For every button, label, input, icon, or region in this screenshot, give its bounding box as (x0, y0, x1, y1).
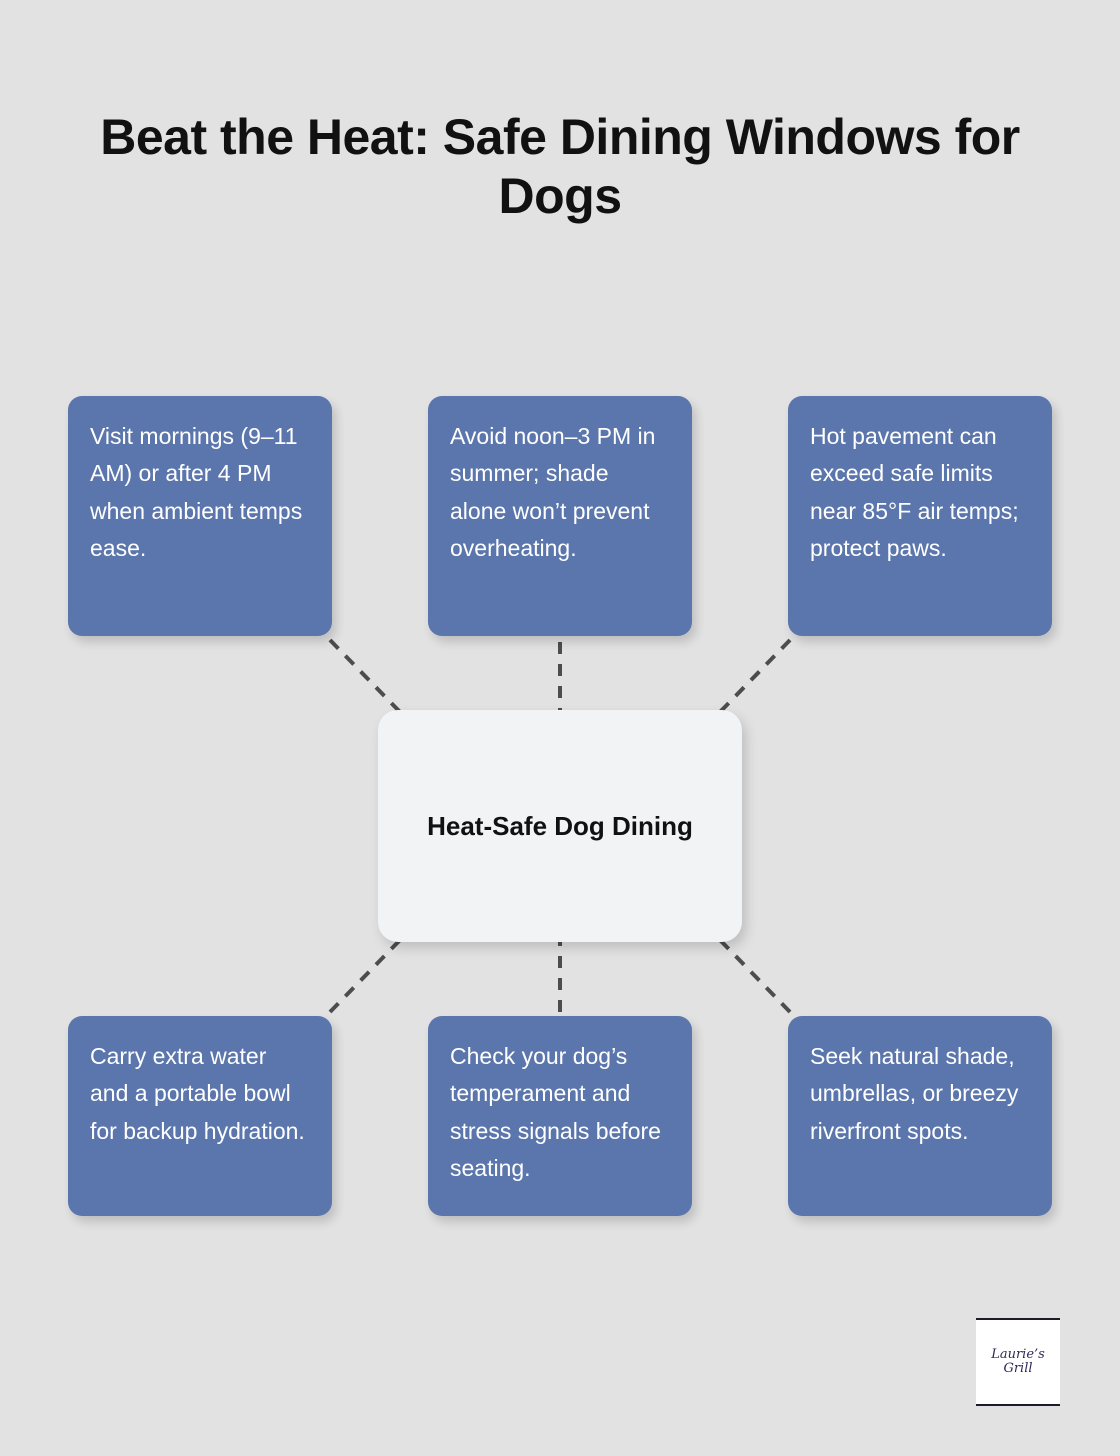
connector-bottom-left (330, 940, 400, 1012)
node-bottom-right-text: Seek natural shade, umbrellas, or breezy… (810, 1038, 1030, 1150)
connector-top-left (330, 640, 400, 712)
node-bottom-left: Carry extra water and a portable bowl fo… (68, 1016, 332, 1216)
node-bottom-left-text: Carry extra water and a portable bowl fo… (90, 1038, 310, 1150)
page-title: Beat the Heat: Safe Dining Windows for D… (90, 108, 1030, 226)
node-top-left: Visit mornings (9–11 AM) or after 4 PM w… (68, 396, 332, 636)
brand-logo-line1: Laurie’s (991, 1348, 1045, 1362)
connector-bottom-right (720, 940, 790, 1012)
center-node: Heat-Safe Dog Dining (378, 710, 742, 942)
brand-logo: Laurie’s Grill (976, 1318, 1060, 1406)
node-top-center: Avoid noon–3 PM in summer; shade alone w… (428, 396, 692, 636)
center-node-label: Heat-Safe Dog Dining (427, 808, 693, 845)
node-top-left-text: Visit mornings (9–11 AM) or after 4 PM w… (90, 418, 310, 567)
connector-top-right (720, 640, 790, 712)
node-bottom-center-text: Check your dog’s temperament and stress … (450, 1038, 670, 1187)
infographic-page: Beat the Heat: Safe Dining Windows for D… (0, 0, 1120, 1456)
node-top-center-text: Avoid noon–3 PM in summer; shade alone w… (450, 418, 670, 567)
brand-logo-line2: Grill (1003, 1362, 1032, 1376)
node-bottom-center: Check your dog’s temperament and stress … (428, 1016, 692, 1216)
node-top-right-text: Hot pavement can exceed safe limits near… (810, 418, 1030, 567)
node-top-right: Hot pavement can exceed safe limits near… (788, 396, 1052, 636)
node-bottom-right: Seek natural shade, umbrellas, or breezy… (788, 1016, 1052, 1216)
